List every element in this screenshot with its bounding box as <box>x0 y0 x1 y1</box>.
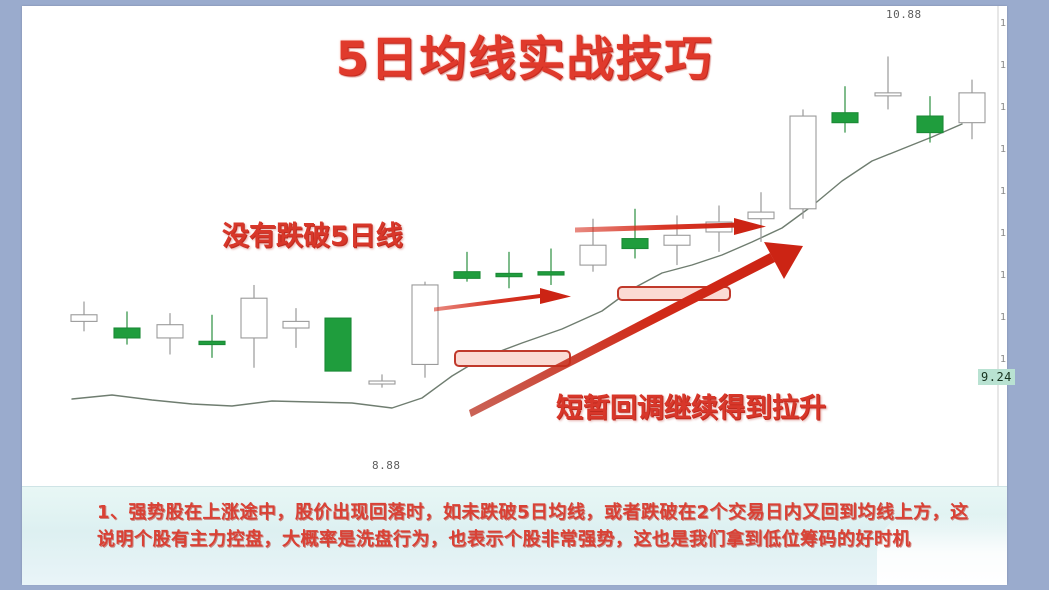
axis-tick-label: 1 <box>1000 354 1006 365</box>
axis-tick-label: 1 <box>1000 60 1006 71</box>
candlestick-chart <box>22 6 1007 486</box>
commentary-text: 1、强势股在上涨途中，股价出现回落时，如未跌破5日均线，或者跌破在2个交易日内又… <box>97 499 987 553</box>
candle-body <box>283 321 309 328</box>
candle-body <box>157 325 183 338</box>
annotation-no-break: 没有跌破5日线 <box>222 214 403 253</box>
commentary-panel: 1、强势股在上涨途中，股价出现回落时，如未跌破5日均线，或者跌破在2个交易日内又… <box>22 486 1007 585</box>
candle-body <box>538 272 564 275</box>
candle-body <box>241 298 267 338</box>
candle-body <box>71 315 97 322</box>
price-label-high: 10.88 <box>886 8 922 21</box>
screenshot-root: 5日均线实战技巧 没有跌破5日线 短暂回调继续得到拉升 10.88 8.88 9… <box>0 0 1049 590</box>
axis-tick-label: 1 <box>1000 270 1006 281</box>
candle-body <box>325 318 351 371</box>
candle-body <box>454 272 480 279</box>
chart-canvas <box>22 6 1007 486</box>
candle-body <box>790 116 816 209</box>
axis-tick-label: 1 <box>1000 186 1006 197</box>
candle-series <box>71 56 985 387</box>
candle-body <box>412 285 438 364</box>
candle-body <box>748 212 774 219</box>
candle-body <box>114 328 140 338</box>
candle-body <box>917 116 943 133</box>
upper-trend-arrow <box>434 288 571 312</box>
lower-support-box <box>455 351 570 366</box>
candle-body <box>622 239 648 249</box>
current-price-tag: 9.24 <box>978 369 1015 385</box>
annotation-pullback: 短暂回调继续得到拉升 <box>556 386 826 425</box>
mid-trend-arrow <box>575 218 766 235</box>
axis-tick-label: 1 <box>1000 18 1006 29</box>
axis-tick-label: 1 <box>1000 228 1006 239</box>
candle-body <box>664 235 690 245</box>
candle-body <box>496 273 522 276</box>
candle-body <box>580 245 606 265</box>
candle-body <box>369 381 395 384</box>
candle-body <box>959 93 985 123</box>
price-label-low: 8.88 <box>372 459 401 472</box>
candle-body <box>199 341 225 344</box>
axis-tick-label: 1 <box>1000 312 1006 323</box>
axis-tick-label: 1 <box>1000 144 1006 155</box>
candle-body <box>875 93 901 96</box>
candle-body <box>832 113 858 123</box>
right-axis-ticks: 111111111 <box>1000 0 1049 480</box>
axis-tick-label: 1 <box>1000 102 1006 113</box>
